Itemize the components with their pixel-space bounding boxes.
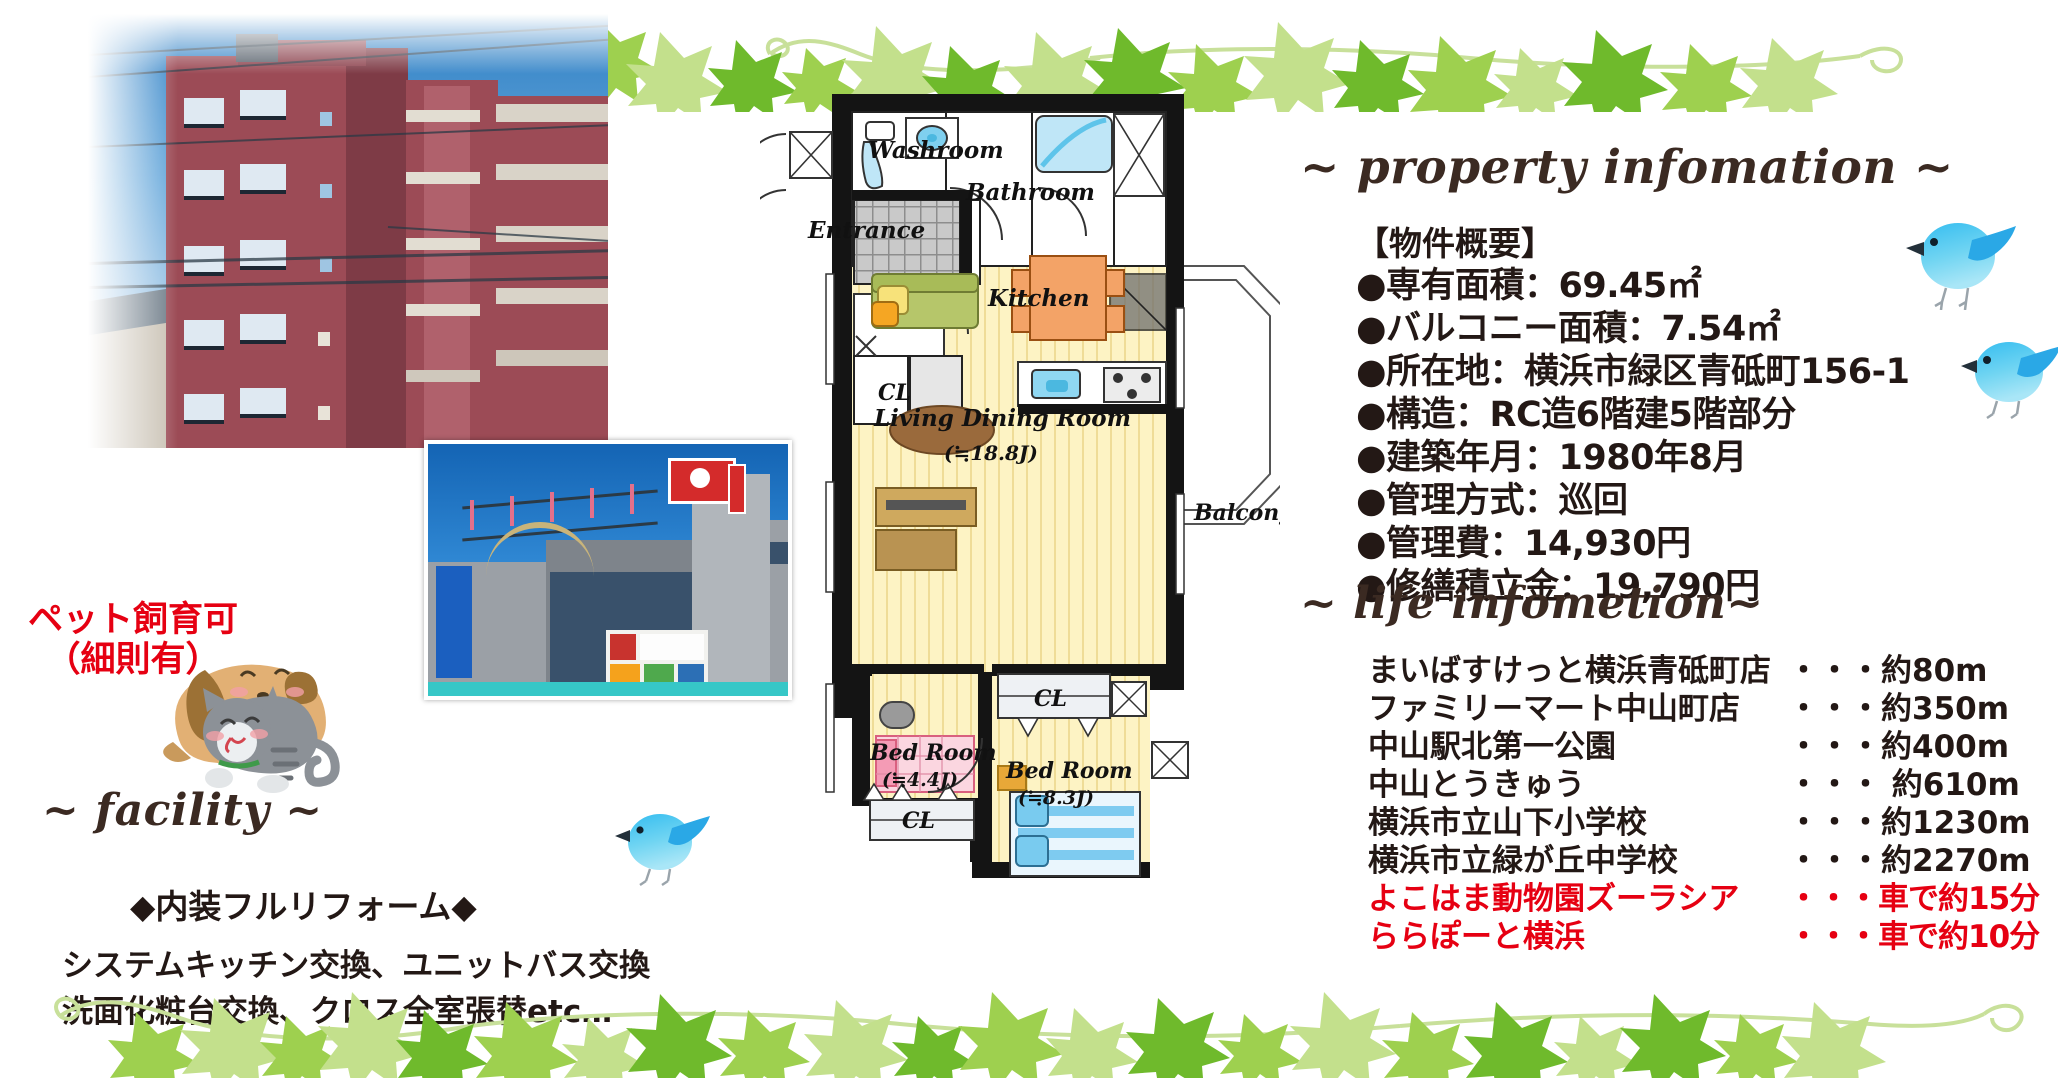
facility-subtitle: ◆内装フルリフォーム◆ [130,880,477,928]
label-bed-large-size: (≒8.3J) [1018,787,1094,809]
life-row-highlight: ららぽーと横浜 ・・・車で約10分 [1368,918,2058,956]
label-cl-entrance: CL [878,380,911,406]
life-row-distance: ・・・約2270m [1788,842,2058,880]
floor-plan: Washroom Bathroom Entrance Kitchen Livin… [760,78,1280,938]
label-kitchen: Kitchen [987,285,1089,312]
property-item-mgmt-fee: ●管理費：14,930円 [1356,523,1909,566]
life-row-highlight: よこはま動物園ズーラシア ・・・車で約15分 [1368,880,2058,918]
life-row-distance: ・・・約350m [1788,690,2058,728]
life-row: 中山とうきゅう ・・・ 約610m [1368,766,2058,804]
property-info-heading: ~ property infomation ~ [1300,140,1954,195]
life-row-name: 中山とうきゅう [1368,766,1788,804]
label-cl-bed-small: CL [902,808,935,834]
label-washroom: Washroom [868,137,1004,164]
blue-bird-icon [610,792,720,887]
life-row-distance: ・・・車で約10分 [1788,918,2058,956]
nearby-store-photo [424,440,792,700]
life-row-distance: ・・・約1230m [1788,804,2058,842]
property-item-area: ●専有面積：69.45㎡ [1356,265,1909,308]
life-row-distance: ・・・約80m [1788,652,2058,690]
facility-line-2: 洗面化粧台交換、クロス全室張替etc… [62,986,612,1031]
life-row-name: よこはま動物園ズーラシア [1368,880,1788,918]
property-overview-label: 【物件概要】 [1356,222,1909,265]
life-row-distance: ・・・ 約610m [1788,766,2058,804]
label-balcony: Balcony [1193,500,1280,526]
label-bed-small: Bed Room [869,740,997,766]
building-exterior-photo [88,14,608,448]
life-row-distance: ・・・車で約15分 [1788,880,2058,918]
life-row-name: 横浜市立山下小学校 [1368,804,1788,842]
label-cl-bed-large: CL [1034,686,1067,712]
life-row-name: ファミリーマート中山町店 [1368,690,1788,728]
property-item-structure: ●構造：RC造6階建5階部分 [1356,394,1909,437]
life-row: 横浜市立山下小学校 ・・・約1230m [1368,804,2058,842]
blue-bird-icon [1955,320,2058,420]
life-row: 横浜市立緑が丘中学校 ・・・約2270m [1368,842,2058,880]
life-row: まいばすけっと横浜青砥町店 ・・・約80m [1368,652,2058,690]
label-living: Living Dining Room [873,405,1131,432]
life-row-name: まいばすけっと横浜青砥町店 [1368,652,1788,690]
facility-heading: ~ facility ~ [42,785,323,836]
property-item-balcony: ●バルコニー面積：7.54㎡ [1356,308,1909,351]
blue-bird-icon [1900,200,2030,310]
life-info-heading: ~ life infometion~ [1300,578,1764,629]
label-living-size: (≒18.8J) [944,441,1038,465]
life-info-table: まいばすけっと横浜青砥町店 ・・・約80m ファミリーマート中山町店 ・・・約3… [1368,652,2058,956]
life-row: 中山駅北第一公園 ・・・約400m [1368,728,2058,766]
life-row-distance: ・・・約400m [1788,728,2058,766]
life-row: ファミリーマート中山町店 ・・・約350m [1368,690,2058,728]
property-item-address: ●所在地：横浜市緑区青砥町156-1 [1356,351,1909,394]
label-bathroom: Bathroom [965,179,1095,206]
life-row-name: ららぽーと横浜 [1368,918,1788,956]
property-item-builtdate: ●建築年月：1980年8月 [1356,437,1909,480]
label-entrance: Entrance [807,217,925,244]
label-bed-small-size: (≒4.4J) [882,769,958,791]
property-item-management: ●管理方式：巡回 [1356,480,1909,523]
dog-and-cat-illustration [145,600,365,800]
label-bed-large: Bed Room [1005,758,1133,784]
life-row-name: 中山駅北第一公園 [1368,728,1788,766]
facility-line-1: システムキッチン交換、ユニットバス交換 [62,940,650,985]
property-overview-list: 【物件概要】 ●専有面積：69.45㎡ ●バルコニー面積：7.54㎡ ●所在地：… [1356,222,1909,609]
life-row-name: 横浜市立緑が丘中学校 [1368,842,1788,880]
